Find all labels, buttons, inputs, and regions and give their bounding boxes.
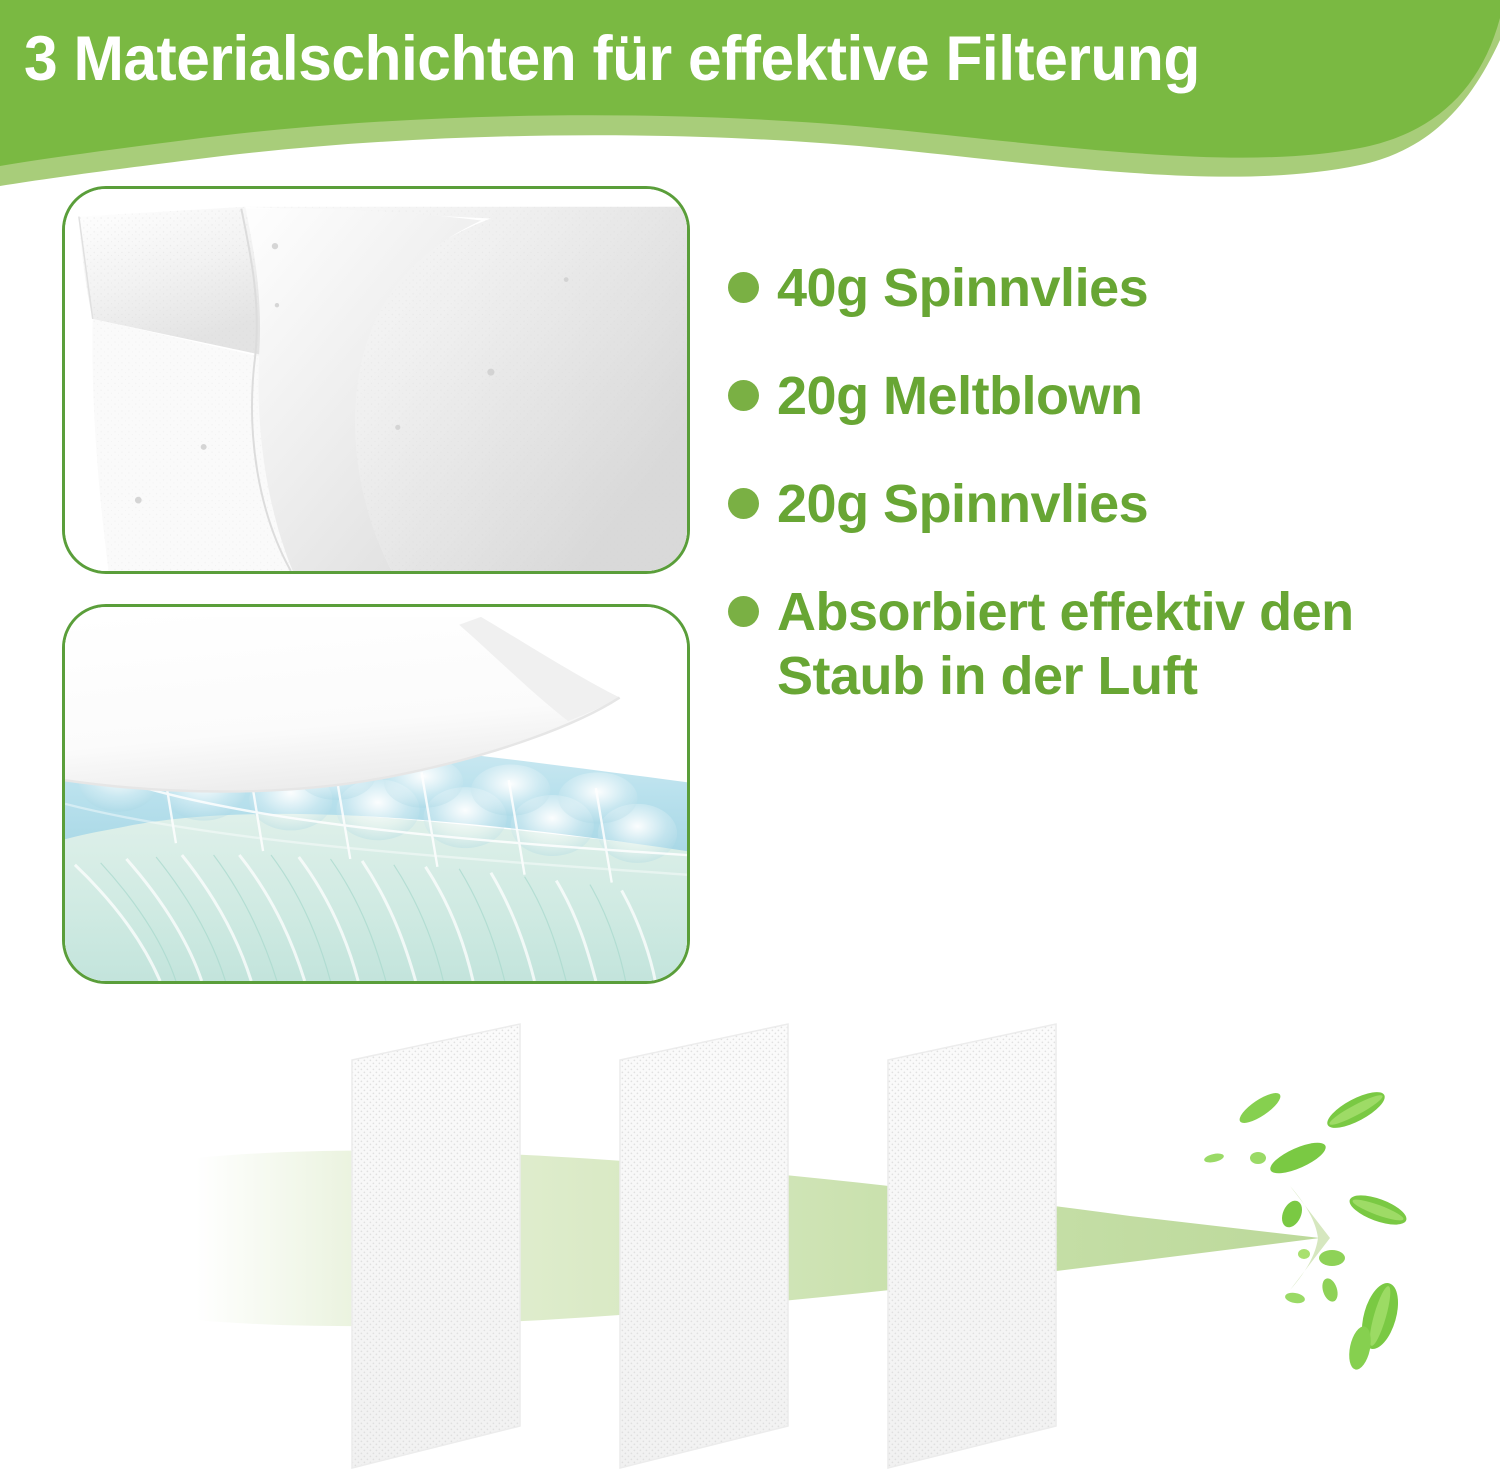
- header-banner: 3 Materialschichten für effektive Filter…: [0, 0, 1500, 190]
- feature-bullet-list: 40g Spinnvlies 20g Meltblown 20g Spinnvl…: [728, 256, 1488, 752]
- airflow-filtration-diagram: [0, 990, 1500, 1479]
- spunbond-fabric-photo: [62, 186, 690, 574]
- bullet-label: 20g Meltblown: [777, 364, 1143, 428]
- bullet-label: 40g Spinnvlies: [777, 256, 1148, 320]
- filter-sheet-2: [620, 1024, 788, 1468]
- layered-material-photo: [62, 604, 690, 984]
- infographic-page: 3 Materialschichten für effektive Filter…: [0, 0, 1500, 1479]
- list-item: 20g Meltblown: [728, 364, 1488, 428]
- bullet-label: Absorbiert effektiv den Staub in der Luf…: [777, 580, 1467, 708]
- page-title: 3 Materialschichten für effektive Filter…: [24, 20, 1368, 98]
- list-item: 40g Spinnvlies: [728, 256, 1488, 320]
- bullet-dot-icon: [728, 272, 759, 303]
- bullet-dot-icon: [728, 596, 759, 627]
- bullet-dot-icon: [728, 380, 759, 411]
- list-item: 20g Spinnvlies: [728, 472, 1488, 536]
- bullet-dot-icon: [728, 488, 759, 519]
- filter-sheet-3: [888, 1024, 1056, 1468]
- filter-sheet-1: [352, 1024, 520, 1468]
- bullet-label: 20g Spinnvlies: [777, 472, 1148, 536]
- list-item: Absorbiert effektiv den Staub in der Luf…: [728, 580, 1488, 708]
